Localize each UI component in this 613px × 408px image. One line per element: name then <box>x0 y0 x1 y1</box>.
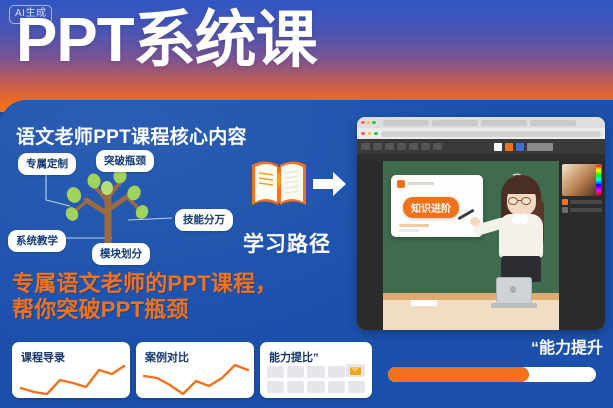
hue-slider[interactable] <box>596 165 601 195</box>
tree-diagram: 专属定制 突破瓶颈 技能分万 系统教学 模块划分 <box>8 148 248 266</box>
layer-item[interactable] <box>562 199 602 205</box>
tree-label-mkhf: 模块划分 <box>92 243 150 265</box>
laptop-base <box>491 303 537 308</box>
progress-bar[interactable] <box>388 367 596 382</box>
card-course-index[interactable]: 课程导录 <box>12 342 130 398</box>
headline-line-2: 帮你突破PPT瓶颈 <box>12 297 277 323</box>
teacher-fringe <box>504 179 539 194</box>
card-label: 能力提比” <box>269 349 319 365</box>
placeholder-block <box>267 381 284 393</box>
tree-label-jnfw: 技能分万 <box>175 209 233 231</box>
laptop-logo-icon <box>510 286 516 293</box>
teacher-glasses-right <box>521 197 531 205</box>
toolbar-button[interactable] <box>397 143 406 150</box>
toolbar-button[interactable] <box>421 143 430 150</box>
layer-item[interactable] <box>562 207 602 213</box>
slide-logo-text <box>408 182 434 185</box>
sparkline-chart <box>12 361 130 395</box>
toolbar-button[interactable] <box>361 143 370 150</box>
card-ability-comparison[interactable]: 能力提比” <box>260 342 372 398</box>
tree-label-zsdz: 专属定制 <box>18 153 76 175</box>
browser-tab[interactable] <box>383 120 429 126</box>
desk <box>383 294 559 330</box>
mockup-toolbar[interactable] <box>357 139 605 154</box>
placeholder-block <box>328 381 345 393</box>
toolbar-button[interactable] <box>373 143 382 150</box>
urlbar-dot <box>368 132 372 136</box>
mockup-urlbar[interactable] <box>357 128 605 139</box>
color-swatch-blue[interactable] <box>516 143 524 151</box>
teacher-illustration <box>487 173 557 285</box>
placeholder-block <box>307 366 324 378</box>
progress-label: “能力提升 <box>531 334 603 358</box>
window-close-dot[interactable] <box>361 121 365 125</box>
chalkboard-canvas: 知识进阶 <box>383 161 559 330</box>
placeholder-block <box>287 366 304 378</box>
browser-tab[interactable] <box>481 120 527 126</box>
browser-tab[interactable] <box>530 120 576 126</box>
tree-label-xtjx: 系统教学 <box>8 230 66 252</box>
tree-label-tppj: 突破瓶颈 <box>96 150 154 172</box>
slide-logo-icon <box>397 180 405 188</box>
headline-line-1: 专属语文老师的PPT课程， <box>12 271 277 297</box>
card-case-comparison[interactable]: 案例对比 <box>136 342 254 398</box>
slide-card: 知识进阶 <box>391 175 483 237</box>
sparkline-chart <box>136 361 254 395</box>
toolbar-field[interactable] <box>527 143 553 151</box>
desk-top <box>383 293 559 300</box>
promo-headline: 专属语文老师的PPT课程， 帮你突破PPT瓶颈 <box>12 271 277 322</box>
layer-name <box>570 208 602 212</box>
teacher-glasses-bridge <box>518 200 522 201</box>
placeholder-block <box>267 366 284 378</box>
open-book-icon <box>248 155 310 211</box>
window-maximize-dot[interactable] <box>372 121 376 125</box>
section-title: 语文老师PPT课程核心内容 <box>16 122 247 149</box>
toolbar-button[interactable] <box>385 143 394 150</box>
mockup-titlebar <box>357 117 605 128</box>
window-minimize-dot[interactable] <box>367 121 371 125</box>
design-app-mockup: 知识进阶 <box>357 117 605 330</box>
urlbar-dot <box>361 132 365 136</box>
placeholder-block <box>348 381 365 393</box>
mockup-properties-rail[interactable] <box>559 161 605 330</box>
color-swatch-orange[interactable] <box>505 143 513 151</box>
placeholder-block <box>287 381 304 393</box>
placeholder-block <box>328 366 345 378</box>
ai-generated-badge: AI生成 <box>9 5 52 24</box>
paper-sheet <box>411 300 437 306</box>
layer-name <box>570 200 602 204</box>
slide-footer-line <box>399 224 429 227</box>
arrow-right-icon <box>313 170 347 203</box>
slide-footer-line <box>399 229 419 232</box>
color-picker-gradient[interactable] <box>562 164 602 196</box>
mockup-options-bar <box>357 154 605 161</box>
mockup-tool-rail[interactable] <box>357 161 383 330</box>
learning-path-label: 学习路径 <box>243 228 331 258</box>
browser-tab[interactable] <box>432 120 478 126</box>
toolbar-button[interactable] <box>433 143 442 150</box>
teacher-glasses-left <box>508 197 518 205</box>
page-title: PPT系统课 <box>16 8 317 73</box>
urlbar-dot <box>374 132 378 136</box>
layer-thumbnail <box>562 207 568 213</box>
address-input[interactable] <box>381 131 602 137</box>
slide-badge: 知识进阶 <box>403 197 459 218</box>
teacher-hand <box>470 217 480 226</box>
hero-header: AI生成 PPT系统课 <box>0 0 613 112</box>
placeholder-block-grid <box>267 366 365 393</box>
color-swatch-white[interactable] <box>494 143 502 151</box>
toolbar-button[interactable] <box>409 143 418 150</box>
mockup-browser-tabs[interactable] <box>383 120 602 126</box>
layer-thumbnail <box>562 199 568 205</box>
progress-bar-fill <box>388 367 529 382</box>
mockup-body: 知识进阶 <box>357 161 605 330</box>
placeholder-block <box>307 381 324 393</box>
